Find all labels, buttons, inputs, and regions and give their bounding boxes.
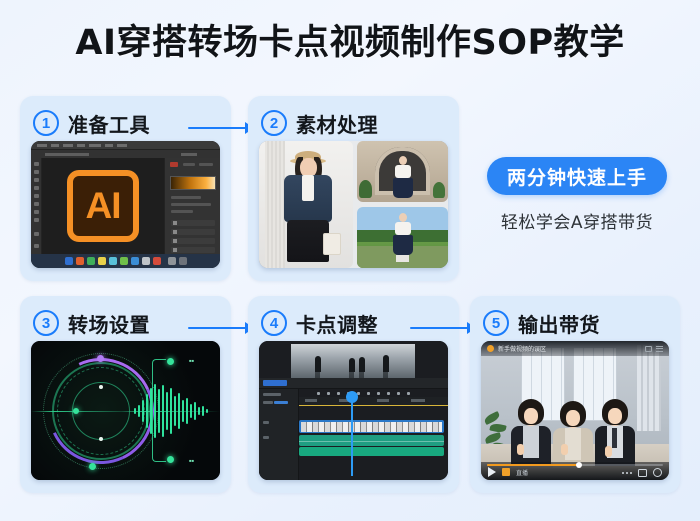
audio-track-clip[interactable] — [299, 435, 444, 446]
step-5-header: 5 输出带货 — [470, 296, 680, 340]
fullscreen-icon[interactable] — [653, 468, 662, 477]
step-3-title: 转场设置 — [68, 309, 150, 338]
potted-plant — [433, 182, 445, 198]
fashion-photo-main — [259, 141, 353, 268]
os-dock — [31, 254, 220, 268]
step-1-thumbnail[interactable]: AI — [31, 141, 220, 268]
presenter-head — [563, 405, 583, 428]
layer-row — [171, 229, 215, 235]
video-editor — [259, 341, 448, 480]
arrow-step3-to-step4 — [188, 321, 254, 335]
dial-marker-top — [97, 355, 104, 362]
tote-bag — [323, 233, 341, 255]
sequence-tab[interactable] — [263, 380, 287, 386]
canvas-area: AI — [42, 158, 164, 254]
model-legs — [396, 255, 409, 262]
figure-silhouette — [315, 356, 321, 372]
properties-panel — [164, 158, 220, 254]
model-skirt — [393, 178, 413, 198]
figure-silhouette — [349, 358, 355, 372]
arrow-step4-to-step5 — [410, 321, 476, 335]
presenter-right — [595, 403, 635, 466]
step-4-thumbnail[interactable] — [259, 341, 448, 480]
presenter-head — [605, 403, 625, 426]
player-left-controls[interactable]: 直播 — [488, 467, 528, 477]
step-card-2[interactable]: 2 素材处理 — [248, 96, 459, 281]
audio-waveform — [134, 383, 208, 439]
play-icon[interactable] — [488, 467, 496, 477]
presenter-center — [553, 405, 593, 468]
menu-icon[interactable] — [656, 346, 663, 352]
fashion-photo-arch — [357, 141, 448, 202]
presenter-head — [521, 403, 541, 426]
progress-fill — [487, 464, 579, 466]
model-figure — [393, 213, 413, 262]
editor-toolbar — [259, 378, 448, 389]
face — [524, 408, 538, 424]
promo-subtitle: 轻松学会A穿搭带货 — [470, 208, 684, 233]
player-duration-label: 直播 — [516, 468, 528, 477]
bracket-label-bottom: ■■ — [189, 458, 194, 463]
layer-row — [171, 238, 215, 244]
fashion-photo-grid — [259, 141, 448, 268]
bracket-label-top: ■■ — [189, 358, 194, 363]
step-4-number-badge: 4 — [261, 310, 287, 336]
infographic-poster: AI穿搭转场卡点视频制作SOP教学 1 准备工具 — [0, 0, 700, 521]
program-monitor — [291, 344, 415, 378]
step-2-thumbnail[interactable] — [259, 141, 448, 268]
next-icon[interactable] — [502, 468, 510, 476]
record-chip — [170, 162, 178, 167]
layer-row — [171, 247, 215, 253]
figure-silhouette — [383, 355, 389, 372]
step-3-thumbnail[interactable]: ■■ ■■ — [31, 341, 220, 480]
step-2-header: 2 素材处理 — [248, 96, 459, 140]
document-tabbar — [31, 150, 220, 158]
shirt — [565, 428, 581, 460]
curtain — [637, 345, 661, 431]
step-5-thumbnail[interactable]: 新手做视频的误区 直播 — [481, 341, 669, 480]
video-scene — [481, 341, 669, 480]
step-1-title: 准备工具 — [68, 109, 150, 138]
ai-logo-text: AI — [86, 187, 121, 224]
step-1-number-badge: 1 — [33, 110, 59, 136]
model-head — [399, 213, 407, 222]
video-track-clip[interactable] — [299, 420, 444, 433]
tool-icon-row[interactable] — [317, 392, 410, 395]
channel-avatar-icon — [487, 345, 494, 352]
track-header-panel — [259, 389, 299, 480]
dial-tick-bottom — [99, 437, 103, 441]
thumbs-up-hand — [517, 444, 524, 455]
model-skirt — [393, 235, 413, 255]
progress-knob[interactable] — [576, 462, 582, 468]
arrow-shaft — [188, 327, 246, 330]
dial-ring-inner — [72, 382, 130, 440]
layer-row — [171, 220, 215, 226]
page-title: AI穿搭转场卡点视频制作SOP教学 — [0, 24, 700, 63]
player-controls-bar[interactable]: 直播 — [481, 462, 669, 480]
model-figure — [393, 156, 413, 198]
theater-mode-icon[interactable] — [638, 469, 647, 477]
model-top — [395, 165, 411, 178]
presenter-body — [595, 426, 635, 466]
step-5-number-badge: 5 — [483, 310, 509, 336]
dial-marker-bottom — [89, 463, 96, 470]
denim-jacket — [284, 175, 332, 222]
transition-visualizer: ■■ ■■ — [31, 341, 220, 480]
bracket-node-top — [167, 358, 174, 365]
presenter-left — [511, 403, 551, 466]
progress-bar[interactable] — [487, 464, 663, 466]
step-3-number-badge: 3 — [33, 310, 59, 336]
face — [566, 410, 580, 426]
step-2-number-badge: 2 — [261, 110, 287, 136]
thumbs-up-hand — [605, 446, 612, 457]
necktie — [612, 428, 617, 448]
ai-logo-artboard: AI — [67, 170, 139, 242]
player-right-controls[interactable] — [622, 468, 662, 477]
gradient-swatch — [170, 176, 216, 190]
filmstrip-thumbnails — [301, 422, 442, 432]
timeline-playhead[interactable] — [351, 397, 353, 476]
fashion-photo-park — [357, 207, 448, 268]
step-5-title: 输出带货 — [518, 309, 600, 338]
app-menubar — [31, 141, 220, 150]
thumbs-up-hand — [561, 444, 568, 455]
page-title-text: AI穿搭转场卡点视频制作SOP教学 — [0, 24, 700, 63]
wall-panel — [265, 141, 285, 268]
figure-silhouette — [359, 357, 365, 372]
cast-icon[interactable] — [645, 346, 652, 352]
step-card-5[interactable]: 5 输出带货 — [470, 296, 680, 493]
audio-track-clip-2[interactable] — [299, 447, 444, 456]
bracket-node-bottom — [167, 456, 174, 463]
potted-plant — [359, 180, 372, 198]
dial-node-right — [73, 408, 79, 414]
model-top — [395, 222, 411, 235]
player-video-title: 新手做视频的误区 — [498, 344, 546, 353]
video-player: 新手做视频的误区 直播 — [481, 341, 669, 480]
dial-tick-top — [99, 385, 103, 389]
illustrator-window: AI — [31, 141, 220, 268]
arrow-shaft — [188, 127, 246, 130]
timeline-ruler[interactable] — [299, 397, 448, 406]
promo-badge[interactable]: 两分钟快速上手 — [487, 157, 667, 195]
shirt — [523, 426, 539, 458]
player-title-bar: 新手做视频的误区 — [481, 341, 669, 356]
tools-panel — [31, 158, 42, 254]
presenter-body — [511, 426, 551, 466]
arrow-shaft — [410, 327, 468, 330]
more-options-icon[interactable] — [622, 472, 632, 474]
arrow-step1-to-step2 — [188, 121, 254, 135]
step-4-title: 卡点调整 — [296, 309, 378, 338]
step-2-title: 素材处理 — [296, 109, 378, 138]
model-head — [399, 156, 407, 165]
face — [608, 408, 622, 424]
